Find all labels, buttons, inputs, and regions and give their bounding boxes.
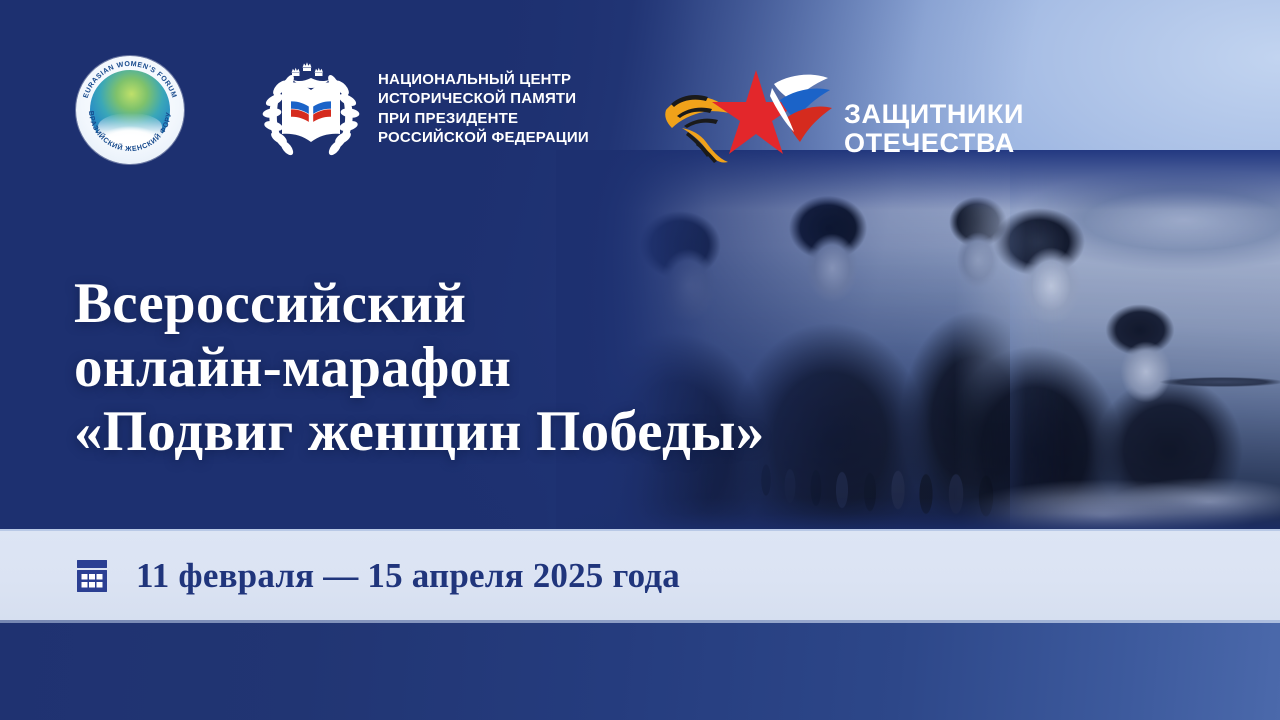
globe-icon [90, 70, 170, 150]
event-dates: 11 февраля — 15 апреля 2025 года [136, 557, 680, 595]
nc-line-4: РОССИЙСКОЙ ФЕДЕРАЦИИ [378, 129, 589, 148]
open-book-tricolor-laurel-emblem-icon [258, 56, 364, 160]
national-center-logo: НАЦИОНАЛЬНЫЙ ЦЕНТР ИСТОРИЧЕСКОЙ ПАМЯТИ П… [258, 52, 589, 164]
nc-line-1: НАЦИОНАЛЬНЫЙ ЦЕНТР [378, 71, 589, 90]
title-line-3: «Подвиг женщин Победы» [74, 400, 894, 464]
logo-row: EURASIAN WOMEN'S FORUM ЕВРАЗИЙСКИЙ ЖЕНСК… [0, 46, 1280, 174]
defenders-of-fatherland-logo: ЗАЩИТНИКИ ОТЕЧЕСТВА [662, 60, 1024, 172]
title-line-2: онлайн-марафон [74, 336, 894, 400]
wave-shape-inner [98, 113, 162, 140]
dof-line-1: ЗАЩИТНИКИ [844, 100, 1024, 129]
eurasian-womens-forum-logo: EURASIAN WOMEN'S FORUM ЕВРАЗИЙСКИЙ ЖЕНСК… [76, 56, 184, 164]
page-title: Всероссийский онлайн-марафон «Подвиг жен… [74, 272, 894, 464]
poster: EURASIAN WOMEN'S FORUM ЕВРАЗИЙСКИЙ ЖЕНСК… [0, 0, 1280, 720]
date-band: 11 февраля — 15 апреля 2025 года [0, 529, 1280, 620]
bottom-strip [0, 620, 1280, 720]
nc-line-2: ИСТОРИЧЕСКОЙ ПАМЯТИ [378, 90, 589, 109]
nc-line-3: ПРИ ПРЕЗИДЕНТЕ [378, 110, 589, 129]
defenders-wordmark: ЗАЩИТНИКИ ОТЕЧЕСТВА [844, 74, 1024, 158]
title-line-1: Всероссийский [74, 272, 894, 336]
national-center-wordmark: НАЦИОНАЛЬНЫЙ ЦЕНТР ИСТОРИЧЕСКОЙ ПАМЯТИ П… [378, 69, 589, 148]
dof-line-2: ОТЕЧЕСТВА [844, 129, 1024, 158]
calendar-icon [74, 558, 110, 594]
saint-george-ribbon-red-star-tricolor-icon [662, 62, 840, 170]
